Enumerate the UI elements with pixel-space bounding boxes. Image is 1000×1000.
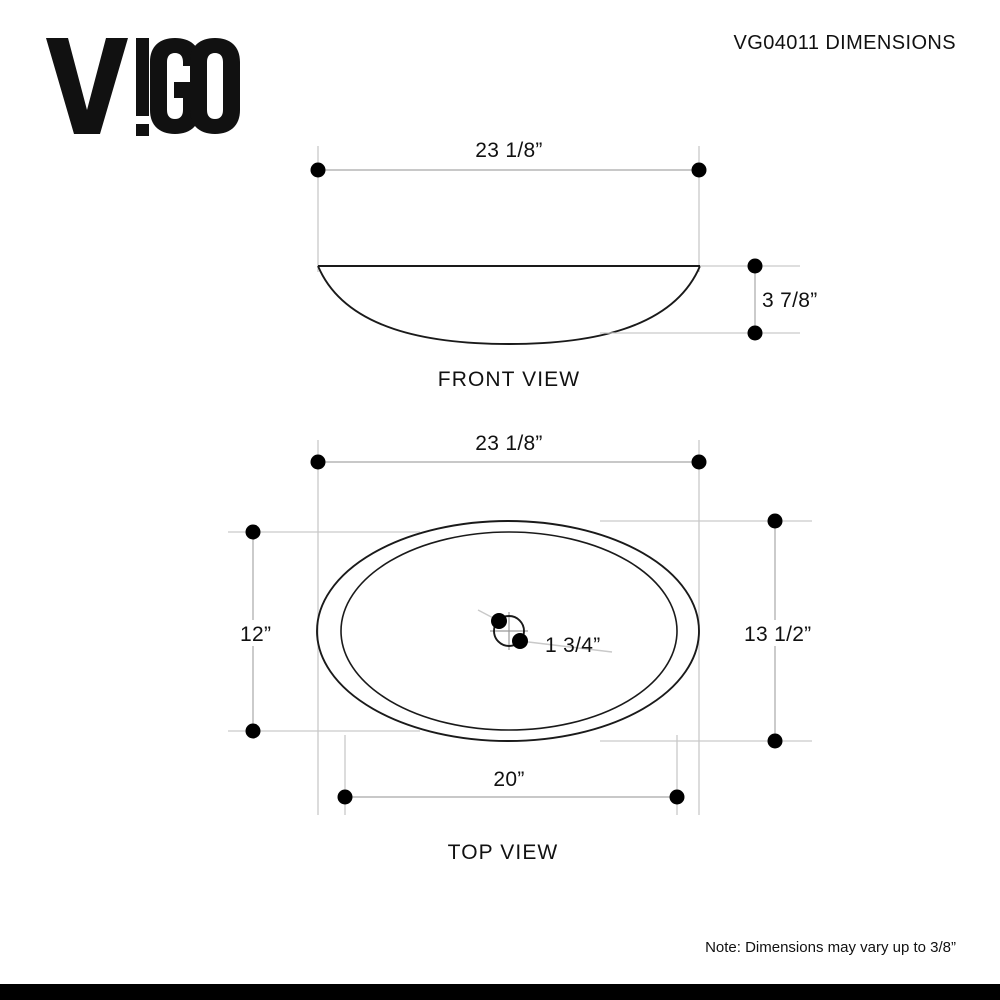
front-height-dot-top <box>748 259 763 274</box>
drain-dot-lower-right <box>512 633 528 649</box>
front-width-dot-right <box>692 163 707 178</box>
top-width-value: 23 1/8” <box>475 432 542 455</box>
drain-dot-upper-left <box>491 613 507 629</box>
top-inner-height-dot-bottom <box>246 724 261 739</box>
front-height-value: 3 7/8” <box>762 289 818 312</box>
front-bowl-curve <box>318 266 700 344</box>
top-inner-width-value: 20” <box>493 768 524 791</box>
top-width-dot-right <box>692 455 707 470</box>
drawing-sheet: VG04011 DIMENSIONS 23 1/8” <box>0 0 1000 1000</box>
top-overall-height-dot-bottom <box>768 734 783 749</box>
top-view-label: TOP VIEW <box>448 841 559 864</box>
front-width-value: 23 1/8” <box>475 139 542 162</box>
drain-diameter-value: 1 3/4” <box>545 634 601 657</box>
technical-drawing: 23 1/8” 3 7/8” FRONT VIEW <box>0 0 1000 1000</box>
top-view-group: 23 1/8” 1 3/4” 12” <box>228 432 834 864</box>
front-view-label: FRONT VIEW <box>438 368 580 391</box>
top-overall-height-value: 13 1/2” <box>744 623 811 646</box>
top-inner-height-dot-top <box>246 525 261 540</box>
top-width-dot-left <box>311 455 326 470</box>
top-inner-height-value: 12” <box>240 623 271 646</box>
footer-bar <box>0 984 1000 1000</box>
top-inner-width-dot-right <box>670 790 685 805</box>
front-height-dot-bottom <box>748 326 763 341</box>
dimension-note: Note: Dimensions may vary up to 3/8” <box>705 939 956 956</box>
front-view-group: 23 1/8” 3 7/8” FRONT VIEW <box>311 139 818 391</box>
front-width-dot-left <box>311 163 326 178</box>
top-inner-width-dot-left <box>338 790 353 805</box>
top-overall-height-dot-top <box>768 514 783 529</box>
